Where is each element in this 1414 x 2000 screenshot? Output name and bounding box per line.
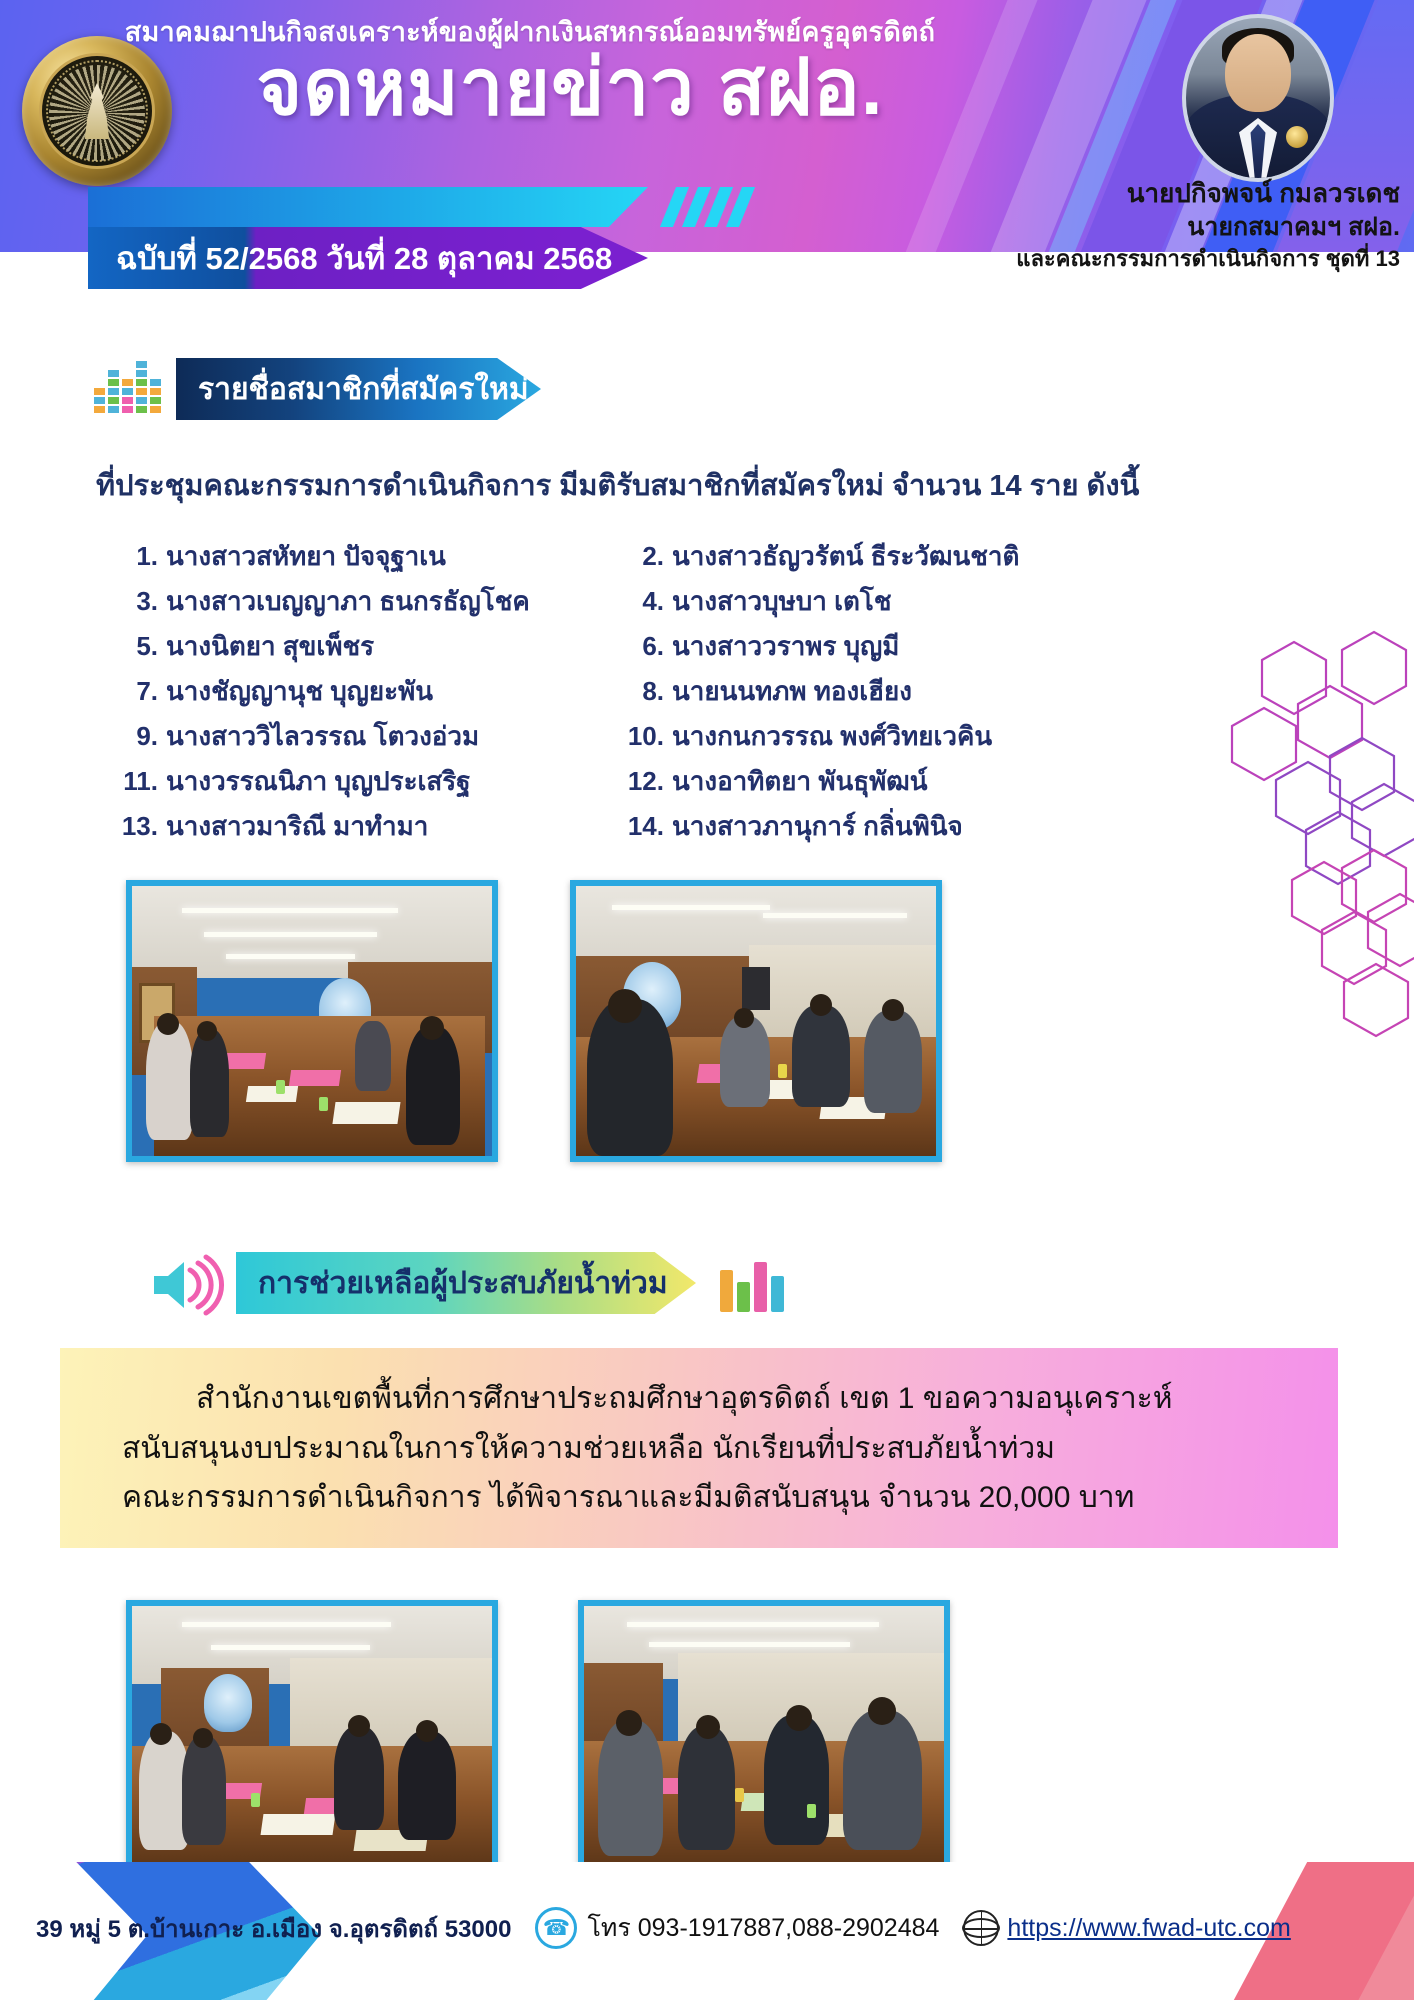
member-number: 7. xyxy=(112,676,158,707)
member-number: 2. xyxy=(612,541,664,572)
list-item: 9. นางสาววิไลวรรณ โตวงอ่วม 10. นางกนกวรร… xyxy=(112,716,1312,761)
member-number: 8. xyxy=(612,676,664,707)
member-entry: 9. นางสาววิไลวรรณ โตวงอ่วม xyxy=(112,716,612,757)
member-name: นางวรรณนิภา บุญประเสริฐ xyxy=(166,761,471,802)
member-name: นางสาวสหัทยา ปัจจุฐาเน xyxy=(166,536,446,577)
meeting-photo-2 xyxy=(570,880,942,1162)
section-header-flood-relief: การช่วยเหลือผู้ประสบภัยน้ำท่วม xyxy=(236,1252,696,1314)
issue-tick-marks xyxy=(666,187,756,227)
president-role: นายกสมาคมฯ สฝอ. xyxy=(880,211,1400,245)
member-number: 6. xyxy=(612,631,664,662)
board-label: และคณะกรรมการดำเนินกิจการ ชุดที่ 13 xyxy=(880,244,1400,273)
meeting-photo-1 xyxy=(126,880,498,1162)
member-name: นางชัญญานุช บุญยะพัน xyxy=(166,671,433,712)
section2-title: การช่วยเหลือผู้ประสบภัยน้ำท่วม xyxy=(236,1260,668,1307)
member-name: นางสาวเบญญาภา ธนกรธัญโชค xyxy=(166,581,530,622)
member-entry: 6. นางสาววราพร บุญมี xyxy=(612,626,1232,667)
president-name: นายปกิจพจน์ กมลวรเดช xyxy=(880,176,1400,211)
phone-icon: ☎ xyxy=(535,1907,577,1949)
member-entry: 1. นางสาวสหัทยา ปัจจุฐาเน xyxy=(112,536,612,577)
member-number: 5. xyxy=(112,631,158,662)
footer-website-link[interactable]: https://www.fwad-utc.com xyxy=(1007,1914,1290,1943)
page-title: จดหมายข่าว สฝอ. xyxy=(150,45,990,129)
member-name: นางสาวภานุการ์ กลิ่นพินิจ xyxy=(672,806,963,847)
member-number: 10. xyxy=(612,721,664,752)
issue-accent-band xyxy=(88,187,648,227)
member-entry: 2. นางสาวธัญวรัตน์ ธีระวัฒนชาติ xyxy=(612,536,1232,577)
member-entry: 11. นางวรรณนิภา บุญประเสริฐ xyxy=(112,761,612,802)
member-number: 1. xyxy=(112,541,158,572)
speaker-announcement-icon xyxy=(150,1252,226,1318)
member-name: นางสาวบุษบา เตโช xyxy=(672,581,892,622)
footer-address: 39 หมู่ 5 ต.บ้านเกาะ อ.เมือง จ.อุตรดิตถ์… xyxy=(36,1909,511,1948)
member-number: 3. xyxy=(112,586,158,617)
footer-phone: โทร 093-1917887,088-2902484 xyxy=(587,1908,939,1948)
list-item: 7. นางชัญญานุช บุญยะพัน 8. นายนนทภพ ทองเ… xyxy=(112,671,1312,716)
equalizer-bars-icon-2 xyxy=(718,1256,796,1312)
paragraph-line: คณะกรรมการดำเนินกิจการ ได้พิจารณาและมีมต… xyxy=(122,1473,1302,1523)
body-paragraph: สำนักงานเขตพื้นที่การศึกษาประถมศึกษาอุตร… xyxy=(122,1374,1302,1523)
section1-title: รายชื่อสมาชิกที่สมัครใหม่ xyxy=(176,366,529,413)
member-number: 12. xyxy=(612,766,664,797)
member-name: นางกนกวรรณ พงศ์วิทยเวคิน xyxy=(672,716,992,757)
member-entry: 3. นางสาวเบญญาภา ธนกรธัญโชค xyxy=(112,581,612,622)
member-name: นางสาววิไลวรรณ โตวงอ่วม xyxy=(166,716,479,757)
globe-icon xyxy=(963,1910,999,1946)
new-members-list: 1. นางสาวสหัทยา ปัจจุฐาเน 2. นางสาวธัญวร… xyxy=(112,536,1312,851)
list-item: 5. นางนิตยา สุขเพ็ชร 6. นางสาววราพร บุญม… xyxy=(112,626,1312,671)
issue-chip: ฉบับที่ 52/2568 วันที่ 28 ตุลาคม 2568 xyxy=(88,227,648,289)
list-item: 3. นางสาวเบญญาภา ธนกรธัญโชค 4. นางสาวบุษ… xyxy=(112,581,1312,626)
member-name: นายนนทภพ ทองเฮียง xyxy=(672,671,912,712)
flood-relief-photo-2 xyxy=(578,1600,950,1872)
member-entry: 4. นางสาวบุษบา เตโช xyxy=(612,581,1232,622)
member-number: 4. xyxy=(612,586,664,617)
member-name: นางนิตยา สุขเพ็ชร xyxy=(166,626,374,667)
president-portrait xyxy=(1182,14,1334,182)
section1-intro: ที่ประชุมคณะกรรมการดำเนินกิจการ มีมติรับ… xyxy=(96,462,1336,508)
list-item: 1. นางสาวสหัทยา ปัจจุฐาเน 2. นางสาวธัญวร… xyxy=(112,536,1312,581)
equalizer-bars-icon xyxy=(92,356,170,422)
member-name: นางสาวมาริณี มาทำมา xyxy=(166,806,428,847)
flood-relief-photo-1 xyxy=(126,1600,498,1872)
paragraph-line: สนับสนุนงบประมาณในการให้ความช่วยเหลือ นั… xyxy=(122,1424,1302,1474)
newsletter-page: สมาคมฌาปนกิจสงเคราะห์ของผู้ฝากเงินสหกรณ์… xyxy=(0,0,1414,2000)
member-entry: 5. นางนิตยา สุขเพ็ชร xyxy=(112,626,612,667)
footer-bar: 39 หมู่ 5 ต.บ้านเกาะ อ.เมือง จ.อุตรดิตถ์… xyxy=(0,1862,1414,2000)
issue-label: ฉบับที่ 52/2568 วันที่ 28 ตุลาคม 2568 xyxy=(88,233,612,283)
member-name: นางอาทิตยา พันธุพัฒน์ xyxy=(672,761,928,802)
member-name: นางสาวธัญวรัตน์ ธีระวัฒนชาติ xyxy=(672,536,1019,577)
section-header-new-members: รายชื่อสมาชิกที่สมัครใหม่ xyxy=(176,358,541,420)
member-entry: 12. นางอาทิตยา พันธุพัฒน์ xyxy=(612,761,1232,802)
list-item: 11. นางวรรณนิภา บุญประเสริฐ 12. นางอาทิต… xyxy=(112,761,1312,806)
member-entry: 14. นางสาวภานุการ์ กลิ่นพินิจ xyxy=(612,806,1232,847)
member-entry: 7. นางชัญญานุช บุญยะพัน xyxy=(112,671,612,712)
member-number: 9. xyxy=(112,721,158,752)
member-entry: 8. นายนนทภพ ทองเฮียง xyxy=(612,671,1232,712)
paragraph-line: สำนักงานเขตพื้นที่การศึกษาประถมศึกษาอุตร… xyxy=(122,1374,1302,1424)
list-item: 13. นางสาวมาริณี มาทำมา 14. นางสาวภานุกา… xyxy=(112,806,1312,851)
flood-relief-body: สำนักงานเขตพื้นที่การศึกษาประถมศึกษาอุตร… xyxy=(60,1348,1338,1548)
member-number: 13. xyxy=(112,811,158,842)
president-info: นายปกิจพจน์ กมลวรเดช นายกสมาคมฯ สฝอ. และ… xyxy=(880,176,1400,274)
member-number: 11. xyxy=(112,766,158,797)
member-entry: 13. นางสาวมาริณี มาทำมา xyxy=(112,806,612,847)
member-entry: 10. นางกนกวรรณ พงศ์วิทยเวคิน xyxy=(612,716,1232,757)
member-name: นางสาววราพร บุญมี xyxy=(672,626,899,667)
member-number: 14. xyxy=(612,811,664,842)
